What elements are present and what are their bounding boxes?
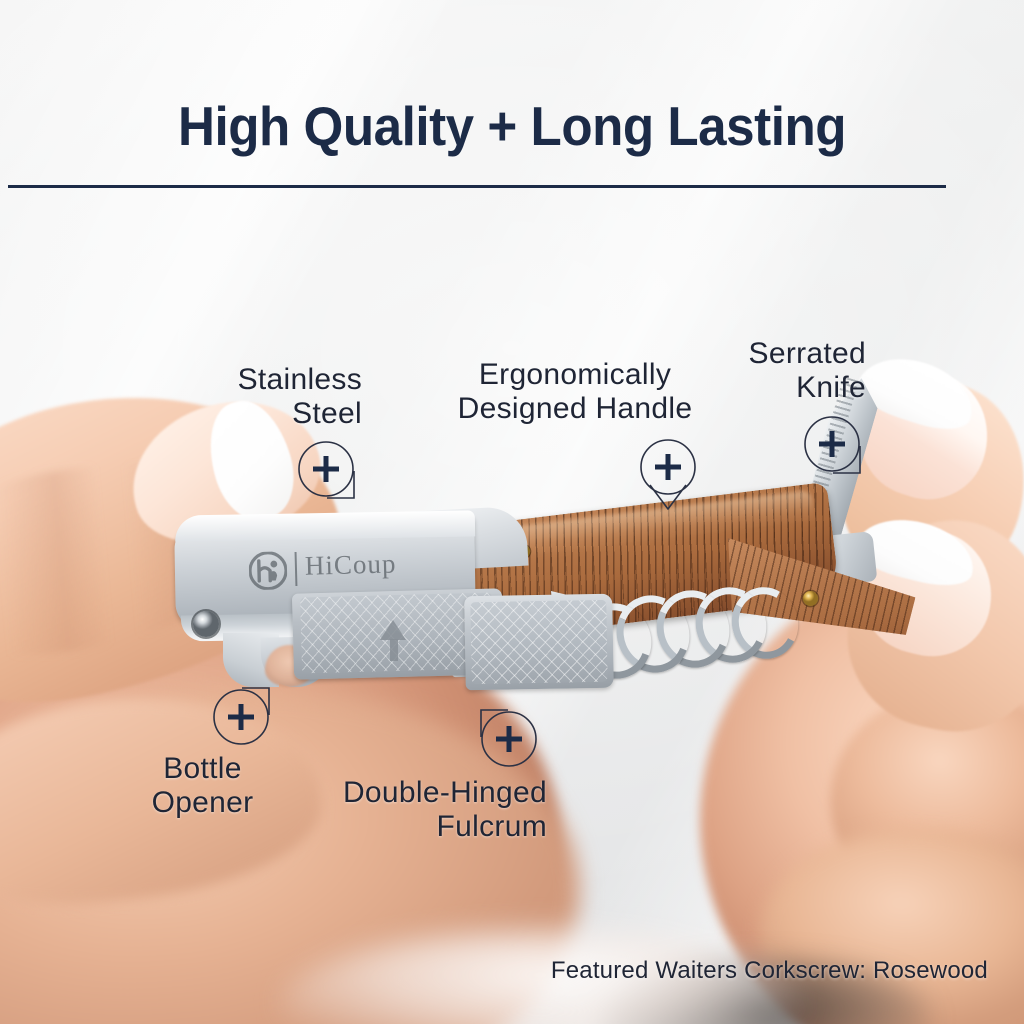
waiters-corkscrew-product (165, 495, 955, 725)
callout-label-bottle-opener: Bottle Opener (120, 752, 285, 820)
brass-pin-lower (803, 591, 818, 606)
plus-circle-square-tail-tl-icon[interactable] (478, 708, 538, 768)
hicoup-wordmark: HiCoup (305, 550, 397, 579)
callout-label-stainless-steel: Stainless Steel (150, 363, 362, 431)
hicoup-brand-etching: HiCoup (248, 546, 419, 592)
hicoup-logo-icon (249, 551, 288, 590)
title-divider (8, 185, 946, 188)
stainless-steel-body-highlight (175, 510, 475, 541)
fulcrum-arrow-icon (380, 620, 406, 640)
plus-circle-pin-tail-icon[interactable] (638, 437, 698, 497)
plus-circle-square-tail-tr-icon[interactable] (212, 686, 272, 746)
pivot-rivet (193, 611, 219, 637)
fulcrum-arrow-stem-icon (390, 639, 398, 661)
product-infographic: HiCoup High Quality + Long Lasting Stain… (0, 0, 1024, 1024)
callout-label-serrated-knife: Serrated Knife (680, 337, 866, 405)
product-caption: Featured Waiters Corkscrew: Rosewood (0, 957, 988, 985)
fulcrum-arm-second-knurling (470, 600, 607, 684)
plus-circle-square-tail-br-icon[interactable] (297, 440, 357, 500)
hicoup-logo-divider (295, 552, 298, 586)
plus-circle-square-tail-br-icon[interactable] (803, 415, 863, 475)
callout-label-ergonomic-handle: Ergonomically Designed Handle (440, 358, 710, 426)
page-title: High Quality + Long Lasting (36, 94, 988, 158)
callout-label-double-hinged-fulcrum: Double-Hinged Fulcrum (310, 776, 547, 844)
